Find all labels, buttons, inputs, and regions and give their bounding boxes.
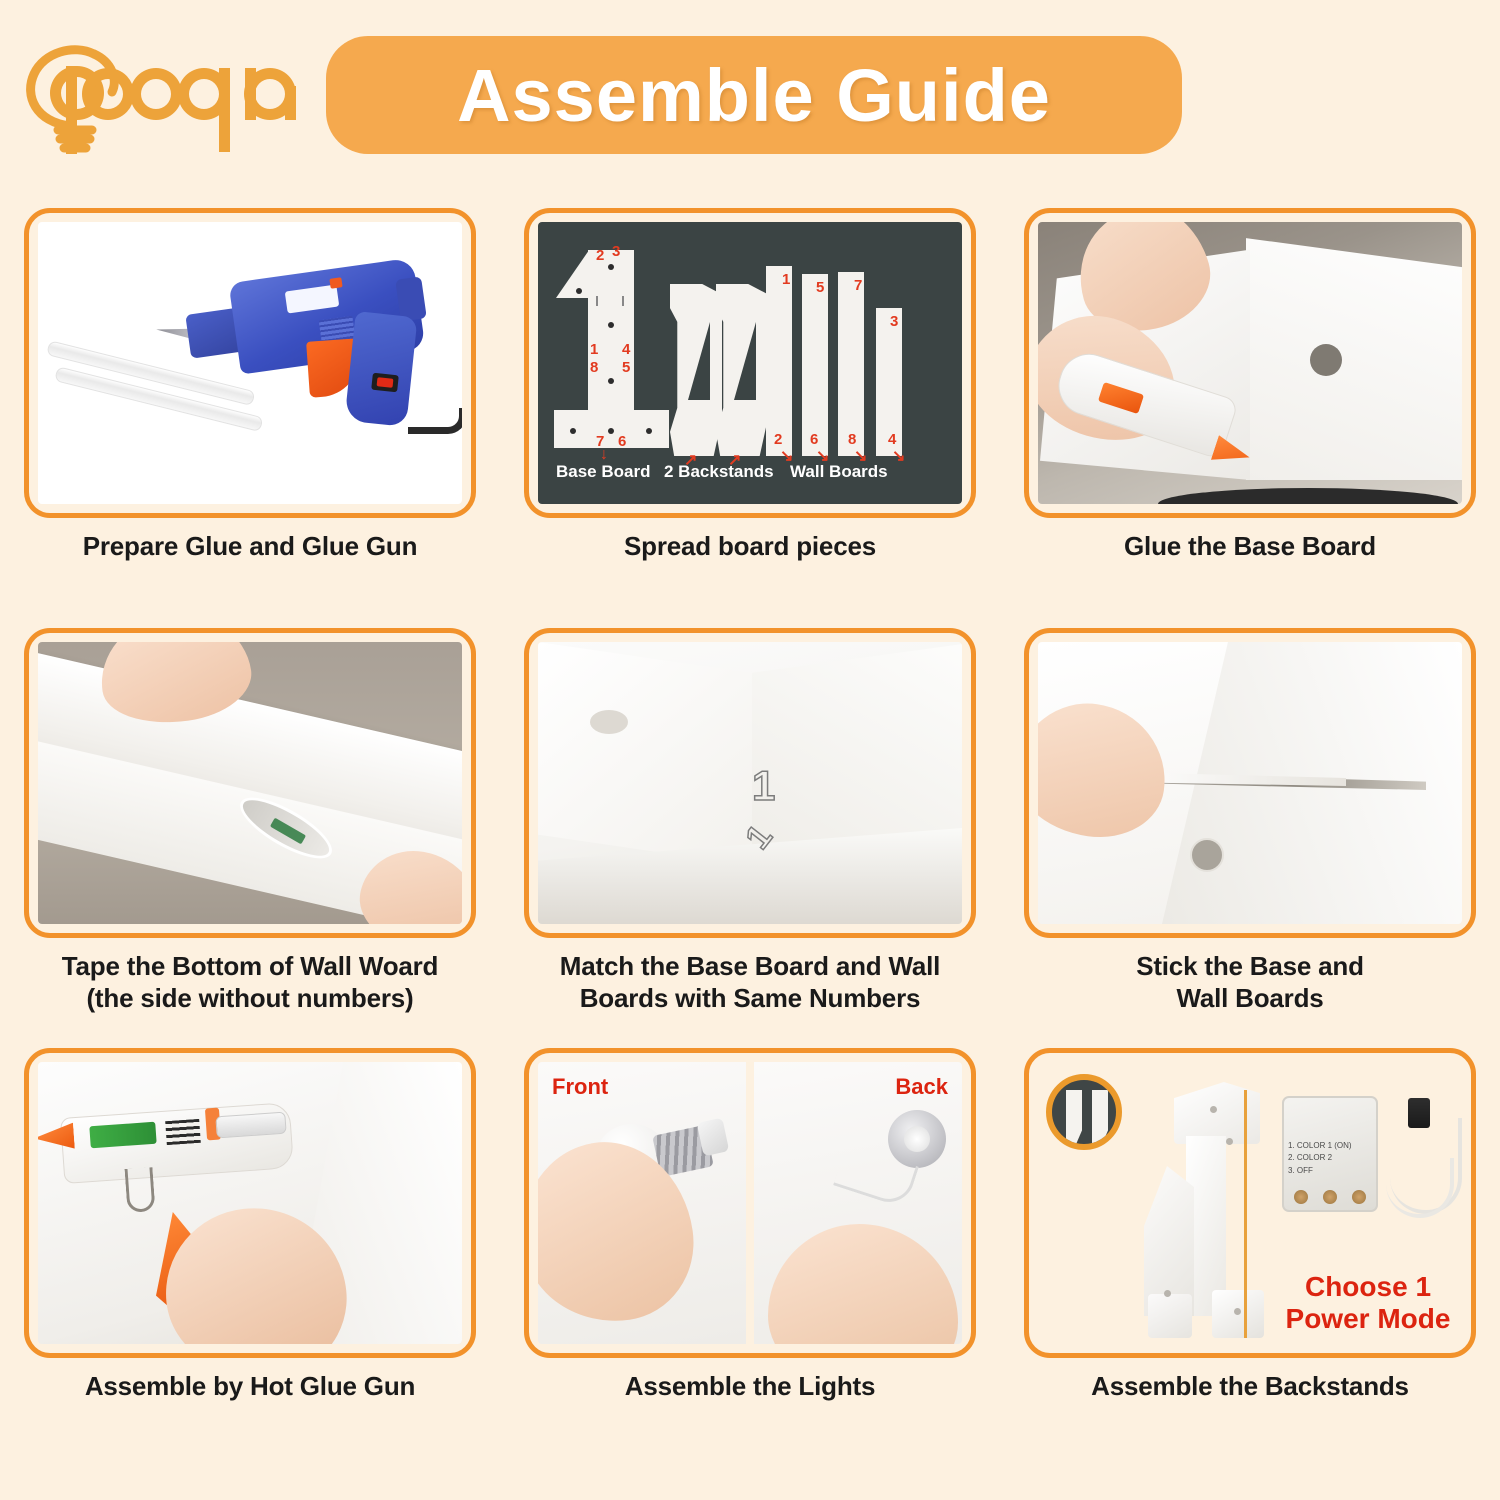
step-7-panel [24, 1048, 476, 1358]
step-7-caption: Assemble by Hot Glue Gun [85, 1371, 415, 1403]
gun-grip [344, 311, 417, 427]
hole-marker [646, 428, 652, 434]
glue-base-board-image [1038, 222, 1462, 504]
steps-row-2: Tape the Bottom of Wall Woard (the side … [0, 628, 1500, 1048]
hot-glue-assemble-image [38, 1062, 462, 1344]
steps-row-3: Assemble by Hot Glue Gun Front Back [0, 1048, 1500, 1468]
hole-marker [608, 378, 614, 384]
step-9-panel: 1. COLOR 1 (ON) 2. COLOR 2 3. OFF Choose… [1024, 1048, 1476, 1358]
hand-icon [768, 1224, 958, 1344]
slot-marker [596, 296, 598, 306]
match-numbers-image: 1 1 [538, 642, 962, 924]
hole-marker [608, 428, 614, 434]
step-6-caption: Stick the Base and Wall Boards [1136, 951, 1364, 1014]
backstand-piece [1066, 1090, 1082, 1146]
backstand-piece [716, 284, 768, 456]
power-mode-line1: Choose 1 [1258, 1271, 1462, 1302]
step-8-panel: Front Back [524, 1048, 976, 1358]
table-edge [1158, 488, 1458, 504]
slot-marker [622, 296, 624, 306]
backstand-foot [1148, 1294, 1192, 1338]
backstand-badge-icon [1046, 1074, 1122, 1150]
hole-marker [590, 710, 628, 734]
bulb-front-view: Front [538, 1062, 746, 1344]
step-1-panel [24, 208, 476, 518]
base-number: 5 [622, 360, 630, 375]
step-2-caption: Spread board pieces [624, 531, 876, 563]
steps-row-1: Prepare Glue and Glue Gun [0, 208, 1500, 628]
bulb-back-view: Back [754, 1062, 962, 1344]
wall-number: 7 [854, 278, 862, 293]
step-6-panel [1024, 628, 1476, 938]
arrow-icon: ↘ [892, 446, 905, 466]
wall-number: 1 [782, 272, 790, 287]
battery-modes-text: 1. COLOR 1 (ON) 2. COLOR 2 3. OFF [1288, 1140, 1376, 1177]
gun-feed [329, 277, 342, 289]
backstands-image: 1. COLOR 1 (ON) 2. COLOR 2 3. OFF Choose… [1038, 1062, 1462, 1344]
wall-number: 3 [890, 314, 898, 329]
hole-marker [608, 322, 614, 328]
lightbulb-icon [8, 30, 308, 160]
brand-logo [8, 30, 308, 160]
base-number: 8 [590, 360, 598, 375]
backstand-top [1174, 1082, 1260, 1144]
battery-mode-1: 1. COLOR 1 (ON) [1288, 1140, 1376, 1152]
step-9-caption: Assemble the Backstands [1091, 1371, 1409, 1403]
step-5-caption-line2: Boards with Same Numbers [560, 983, 940, 1015]
backstand-piece [670, 284, 722, 456]
step-4-panel [24, 628, 476, 938]
hole-marker [570, 428, 576, 434]
wall-board [838, 272, 864, 456]
hand-icon [1038, 694, 1174, 846]
base-number: 4 [622, 342, 630, 357]
hole-marker [608, 264, 614, 270]
page-header: Assemble Guide [0, 0, 1500, 190]
step-card-5: 1 1 Match the Base Board and Wall Boards… [500, 628, 1000, 1048]
step-3-caption: Glue the Base Board [1124, 531, 1376, 563]
wall-board-left [538, 642, 754, 866]
page-title: Assemble Guide [457, 53, 1051, 138]
match-number-wall: 1 [752, 762, 775, 810]
wall-number: 6 [810, 432, 818, 447]
power-mode-text: Choose 1 Power Mode [1258, 1271, 1462, 1334]
step-2-panel: 2 3 1 8 4 5 7 6 ↓ Base Board ↗ ↗ [524, 208, 976, 518]
screw-icon [1234, 1308, 1241, 1315]
socket-core [904, 1126, 930, 1152]
gun-label [89, 1122, 156, 1149]
stick-boards-image [1038, 642, 1462, 924]
step-6-caption-line1: Stick the Base and [1136, 951, 1364, 983]
board-pieces-diagram: 2 3 1 8 4 5 7 6 ↓ Base Board ↗ ↗ [538, 222, 962, 504]
title-banner: Assemble Guide [326, 36, 1182, 154]
battery-mode-3: 3. OFF [1288, 1165, 1376, 1177]
gun-stand-hook [124, 1167, 155, 1213]
power-switch-icon [371, 373, 399, 393]
base-number: 3 [612, 244, 620, 259]
wall-number: 2 [774, 432, 782, 447]
step-4-caption-line1: Tape the Bottom of Wall Woard [62, 951, 438, 983]
base-number: 2 [596, 248, 604, 263]
step-4-caption: Tape the Bottom of Wall Woard (the side … [62, 951, 438, 1014]
power-mode-line2: Power Mode [1258, 1303, 1462, 1334]
lights-image: Front Back [538, 1062, 962, 1344]
step-card-1: Prepare Glue and Glue Gun [0, 208, 500, 628]
screw-icon [1164, 1290, 1171, 1297]
step-card-2: 2 3 1 8 4 5 7 6 ↓ Base Board ↗ ↗ [500, 208, 1000, 628]
backstands-label: 2 Backstands [664, 462, 774, 482]
backstand-piece [1092, 1090, 1108, 1146]
gun-vents [165, 1119, 201, 1145]
step-5-panel: 1 1 [524, 628, 976, 938]
wall-number: 5 [816, 280, 824, 295]
vertical-divider [1244, 1090, 1247, 1338]
board-right [1246, 228, 1462, 480]
front-label: Front [552, 1074, 608, 1100]
wall-board [802, 274, 828, 456]
wall-board-right [752, 642, 962, 862]
usb-plug-icon [1408, 1098, 1430, 1128]
tape-wall-board-image [38, 642, 462, 924]
base-board-label: Base Board [556, 462, 650, 482]
step-card-8: Front Back Assemble the Lights [500, 1048, 1000, 1468]
hole-marker [1310, 344, 1342, 376]
step-1-caption: Prepare Glue and Glue Gun [83, 531, 418, 563]
step-card-6: Stick the Base and Wall Boards [1000, 628, 1500, 1048]
step-card-3: Glue the Base Board [1000, 208, 1500, 628]
wall-board [766, 266, 792, 456]
step-8-caption: Assemble the Lights [625, 1371, 875, 1403]
screw-icon [1210, 1106, 1217, 1113]
step-card-7: Assemble by Hot Glue Gun [0, 1048, 500, 1468]
hole-marker [1190, 838, 1224, 872]
hole-marker [576, 288, 582, 294]
glue-gun-image [38, 222, 462, 504]
step-card-9: 1. COLOR 1 (ON) 2. COLOR 2 3. OFF Choose… [1000, 1048, 1500, 1468]
step-5-caption-line1: Match the Base Board and Wall [560, 951, 940, 983]
wall-number: 8 [848, 432, 856, 447]
power-cord [408, 408, 462, 434]
step-5-caption: Match the Base Board and Wall Boards wit… [560, 951, 940, 1014]
step-3-panel [1024, 208, 1476, 518]
bulb-cap [697, 1118, 730, 1157]
screw-icon [1226, 1138, 1233, 1145]
step-6-caption-line2: Wall Boards [1136, 983, 1364, 1015]
wall-boards-label: Wall Boards [790, 462, 888, 482]
nozzle-tip-icon [38, 1123, 75, 1152]
base-number: 6 [618, 434, 626, 449]
step-card-4: Tape the Bottom of Wall Woard (the side … [0, 628, 500, 1048]
back-label: Back [895, 1074, 948, 1100]
base-number: 1 [590, 342, 598, 357]
wall-number: 4 [888, 432, 896, 447]
step-4-caption-line2: (the side without numbers) [62, 983, 438, 1015]
battery-cells [1286, 1188, 1374, 1206]
battery-mode-2: 2. COLOR 2 [1288, 1152, 1376, 1164]
